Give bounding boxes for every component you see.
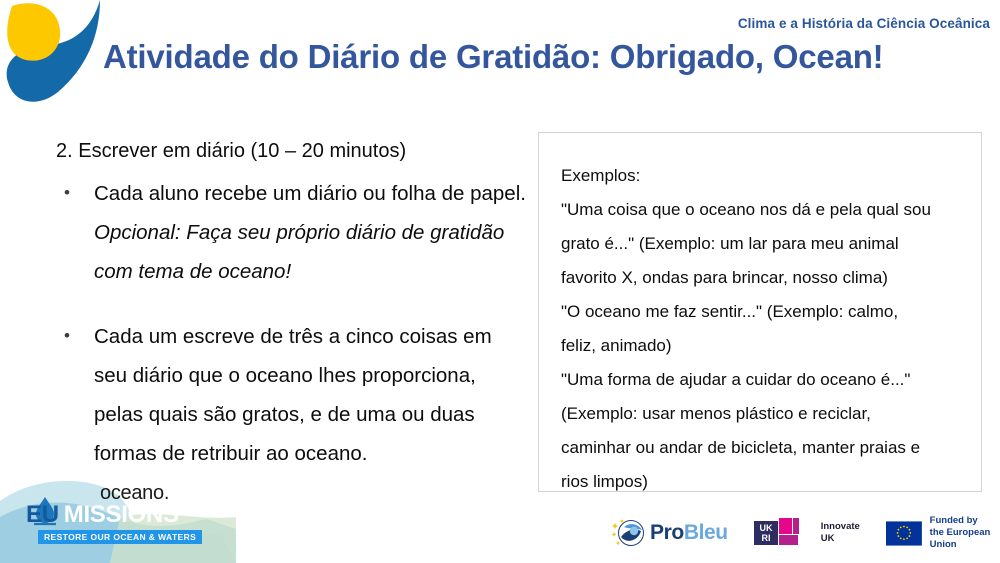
missions-word: MISSIONS — [64, 501, 179, 529]
list-item: • Cada um escreve de três a cinco coisas… — [56, 317, 526, 473]
probleu-globe-icon — [612, 517, 646, 549]
ukri-mark-icon: UK RI — [754, 518, 814, 548]
eu-missions-logo: oceano. EU MISSIONS RESTORE OUR OCEAN & … — [0, 473, 236, 563]
european-union-flag-icon — [886, 518, 922, 549]
svg-text:UK: UK — [759, 523, 772, 533]
examples-line-text: favorito X, ondas para brincar, nosso cl… — [561, 261, 967, 295]
eu-funding-wordmark: Funded by the European Union — [930, 515, 1000, 551]
examples-line-text: "Uma coisa que o oceano nos dá e pela qu… — [561, 193, 967, 227]
body-content-column: 2. Escrever em diário (10 – 20 minutos) … — [56, 138, 526, 499]
probleu-bleu-word: Bleu — [684, 521, 728, 544]
list-item-text: Cada um escreve de três a cinco coisas e… — [94, 317, 526, 473]
examples-panel: Exemplos: "Uma coisa que o oceano nos dá… — [538, 132, 982, 492]
slide-eyebrow-title: Clima e a História da Ciência Oceânica — [738, 16, 990, 31]
eu-funding-logo: Funded by the European Union — [886, 515, 1000, 551]
eu-missions-wordmark: EU MISSIONS — [26, 501, 179, 529]
svg-text:RI: RI — [761, 533, 770, 543]
partner-logos-row: ProBleu UK RI Innovate UK — [612, 511, 1000, 555]
eu-missions-tagline: RESTORE OUR OCEAN & WATERS — [38, 530, 202, 544]
examples-line-text: caminhar ou andar de bicicleta, manter p… — [561, 431, 967, 465]
ukri-innovate-uk-logo: UK RI Innovate UK — [754, 518, 860, 548]
examples-line-text: feliz, animado) — [561, 329, 967, 363]
step-heading: 2. Escrever em diário (10 – 20 minutos) — [56, 138, 526, 165]
brand-logo-mark — [0, 0, 108, 108]
examples-line-text: grato é..." (Exemplo: um lar para meu an… — [561, 227, 967, 261]
examples-line-text: "Uma forma de ajudar a cuidar do oceano … — [561, 363, 967, 397]
list-item: • Cada aluno recebe um diário ou folha d… — [56, 174, 526, 291]
probleu-wordmark: ProBleu — [650, 521, 728, 545]
innovate-uk-line-1: Innovate — [821, 521, 860, 533]
probleu-pro-word: Pro — [650, 521, 684, 544]
eu-funding-line-1: Funded by — [930, 515, 1000, 527]
list-item-text: Cada aluno recebe um diário ou folha de … — [94, 174, 526, 291]
innovate-uk-line-2: UK — [821, 533, 860, 545]
list-item-text-italic: Opcional: Faça seu próprio diário de gra… — [94, 221, 504, 283]
list-item-text-plain: Cada aluno recebe um diário ou folha de … — [94, 182, 526, 205]
eu-word: EU — [26, 501, 59, 529]
page-title: Atividade do Diário de Gratidão: Obrigad… — [103, 33, 973, 81]
eu-funding-line-2: the European Union — [930, 527, 1000, 551]
examples-line-text: "O oceano me faz sentir..." (Exemplo: ca… — [561, 295, 967, 329]
innovate-uk-wordmark: Innovate UK — [821, 521, 860, 545]
examples-line-text: rios limpos) — [561, 465, 967, 499]
examples-line-text: (Exemplo: usar menos plástico e reciclar… — [561, 397, 967, 431]
bullet-marker-icon: • — [56, 317, 94, 355]
probleu-logo: ProBleu — [612, 517, 728, 549]
examples-heading: Exemplos: — [561, 159, 967, 193]
bullet-marker-icon: • — [56, 174, 94, 212]
